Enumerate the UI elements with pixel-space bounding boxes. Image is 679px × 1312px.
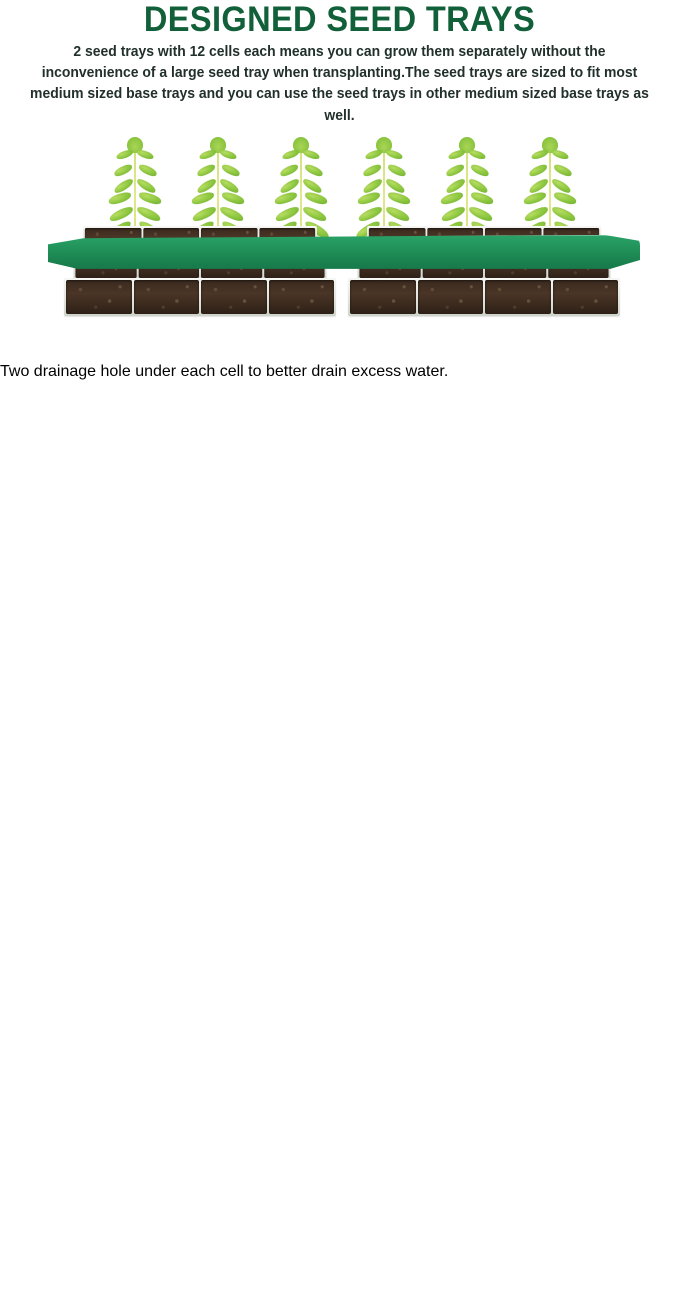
seedling-leaf: [218, 205, 245, 222]
seedling-leaf: [469, 191, 493, 205]
specular-highlight: [0, 407, 123, 412]
seedling-leaf: [136, 149, 154, 160]
seedling-leaf: [531, 149, 549, 160]
seedling-leaf: [467, 205, 494, 222]
drainage-hole: [0, 681, 18, 695]
seedling-leaf: [361, 163, 381, 177]
seedling-leaf: [448, 149, 466, 160]
specular-highlight: [0, 1291, 144, 1296]
specular-highlight: [0, 1007, 123, 1012]
seed-tray-assembly: [34, 131, 644, 363]
seedling-leaf: [386, 163, 406, 177]
drainage-hole: [0, 994, 17, 1007]
drainage-hole: [0, 544, 17, 557]
seedling-leaf: [274, 205, 301, 222]
seedling-leaf: [278, 163, 298, 177]
seedling-leaf: [357, 191, 381, 205]
hero-product-photo: [0, 131, 679, 363]
cell-pod-group: [0, 381, 679, 1312]
seedling-leaf: [384, 205, 411, 222]
seedling-leaf: [108, 191, 132, 205]
seedling-leaf: [302, 149, 320, 160]
product-description: 2 seed trays with 12 cells each means yo…: [27, 42, 653, 127]
seedling-leaf: [137, 163, 157, 177]
seedling-leaf: [191, 205, 218, 222]
drainage-hole: [0, 394, 17, 407]
tray-cell-underside: [0, 981, 150, 1111]
seedling-leaf: [523, 205, 550, 222]
seedling-leaf: [135, 205, 162, 222]
drainage-caption: Two drainage hole under each cell to bet…: [0, 363, 679, 381]
page-title: DESIGNED SEED TRAYS: [24, 0, 655, 38]
drainage-hole: [0, 1111, 19, 1126]
specular-highlight: [0, 708, 131, 713]
seedling-leaf: [365, 149, 383, 160]
seedling-leaf: [385, 149, 403, 160]
drainage-hole: [0, 981, 17, 994]
seedling-leaf: [440, 205, 467, 222]
tray-cell-underside: [0, 1261, 175, 1312]
drainage-hole: [0, 381, 17, 394]
drainage-hole: [0, 831, 18, 845]
green-base-tray: [48, 235, 640, 363]
seedling-leaf: [550, 205, 577, 222]
seedling-leaf: [274, 191, 298, 205]
seedling-leaf: [195, 163, 215, 177]
specular-highlight: [0, 858, 131, 863]
seedling-leaf: [303, 191, 327, 205]
seedling-leaf: [301, 205, 328, 222]
drainage-hole: [0, 1261, 19, 1276]
seedling-leaf: [440, 191, 464, 205]
seedling-leaf: [220, 191, 244, 205]
seedling-leaf: [282, 149, 300, 160]
seedling-leaf: [527, 163, 547, 177]
seedling-leaf: [468, 149, 486, 160]
drainage-hole: [0, 845, 18, 859]
tray-cell-underside: [0, 831, 160, 981]
seedling-leaf: [108, 205, 135, 222]
seedling-leaf: [552, 191, 576, 205]
tray-cell-underside: [0, 1111, 170, 1261]
seedling-leaf: [444, 163, 464, 177]
seedling-leaf: [112, 163, 132, 177]
seedling-leaf: [219, 149, 237, 160]
specular-highlight: [0, 557, 123, 562]
tray-rim: [48, 235, 640, 269]
drainage-hole: [0, 1276, 19, 1291]
tray-cell-underside: [0, 681, 160, 831]
drainage-closeup-photo: [0, 381, 679, 1312]
seedling-leaf: [303, 163, 323, 177]
drainage-hole: [0, 695, 18, 709]
drainage-hole: [0, 531, 17, 544]
seedling-leaf: [220, 163, 240, 177]
seedling-leaf: [552, 163, 572, 177]
seedling-leaf: [199, 149, 217, 160]
specular-highlight: [0, 1140, 139, 1145]
seedling-leaf: [551, 149, 569, 160]
seedling-leaf: [116, 149, 134, 160]
seedling-leaf: [469, 163, 489, 177]
tray-cell-underside: [0, 381, 150, 531]
seedling-leaf: [523, 191, 547, 205]
seedling-leaf: [386, 191, 410, 205]
seedling-leaf: [137, 191, 161, 205]
seedling-leaf: [357, 205, 384, 222]
seedling-leaf: [191, 191, 215, 205]
drainage-hole: [0, 1125, 19, 1140]
tray-cell-underside: [0, 531, 150, 681]
